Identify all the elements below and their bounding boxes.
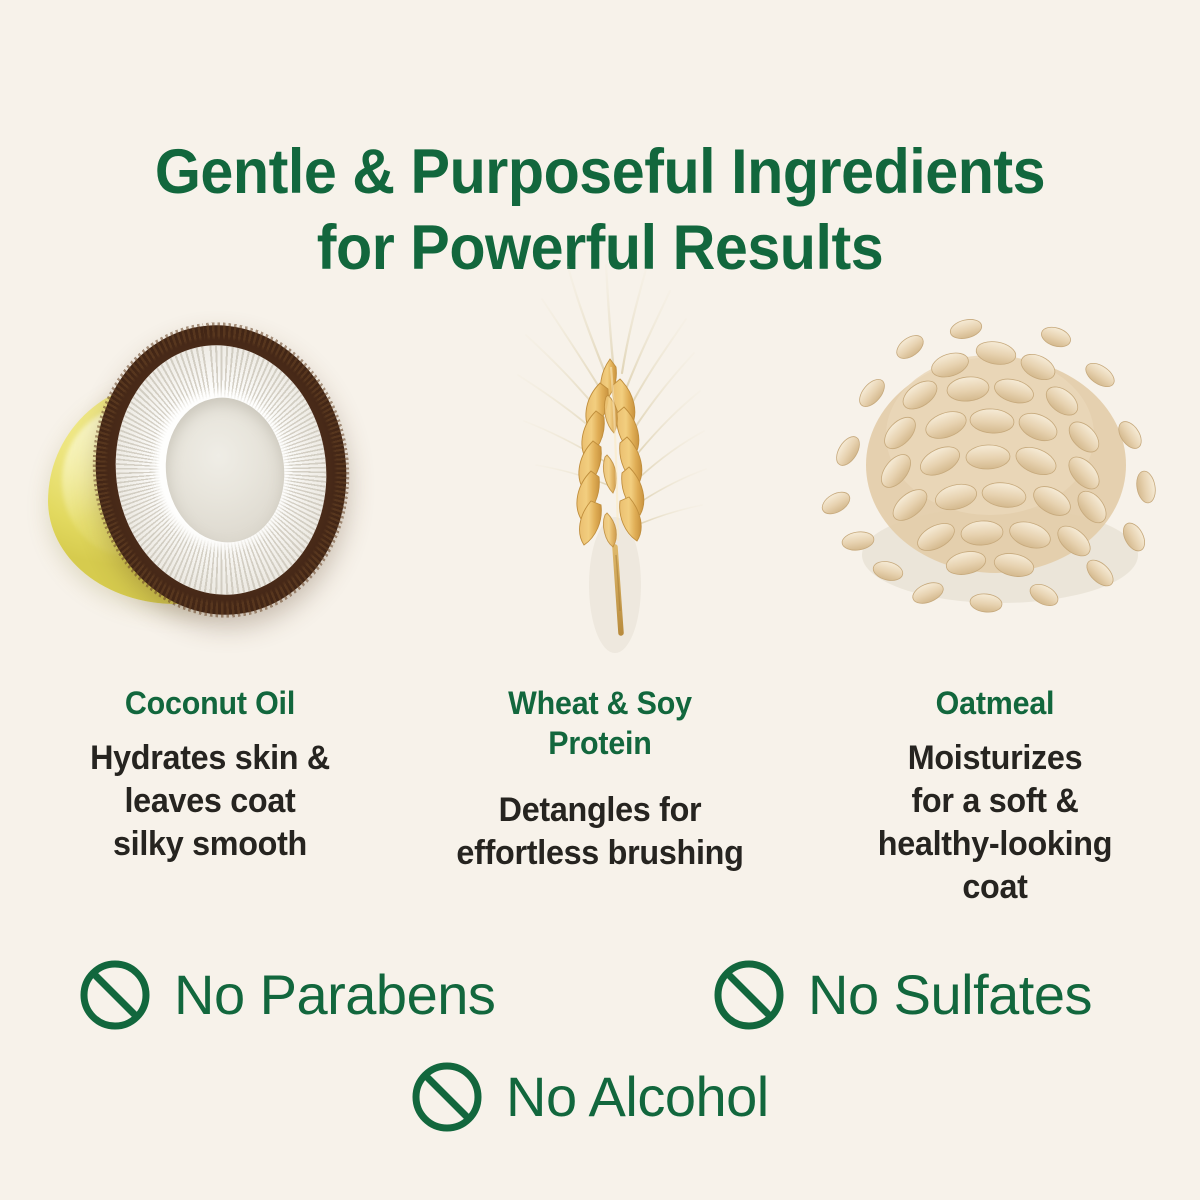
title-line: Protein xyxy=(410,723,790,763)
title-line: Wheat & Soy xyxy=(410,683,790,723)
ingredient-description: Hydrates skin & leaves coat silky smooth xyxy=(34,737,386,866)
desc-line: healthy-looking xyxy=(815,823,1176,866)
coconut-oil-art xyxy=(20,255,400,655)
oatmeal-pile-icon xyxy=(800,255,1190,655)
ingredient-caption-row: Coconut Oil Hydrates skin & leaves coat … xyxy=(0,683,1200,923)
ingredient-description: Detangles for effortless brushing xyxy=(410,789,790,875)
desc-line: Hydrates skin & xyxy=(34,737,386,780)
no-symbol-icon xyxy=(410,1060,484,1134)
desc-line: for a soft & xyxy=(815,780,1176,823)
desc-line: leaves coat xyxy=(34,780,386,823)
caption-oatmeal: Oatmeal Moisturizes for a soft & healthy… xyxy=(805,683,1185,909)
badge-label: No Alcohol xyxy=(506,1067,769,1127)
wheat-stalk-icon xyxy=(410,255,790,655)
badge-no-sulfates: No Sulfates xyxy=(712,958,1092,1032)
coconut-flesh xyxy=(102,333,341,607)
desc-line: silky smooth xyxy=(34,823,386,866)
ingredient-title: Oatmeal xyxy=(815,683,1176,723)
badge-label: No Parabens xyxy=(174,965,495,1025)
oatmeal-art xyxy=(800,255,1190,655)
badge-no-alcohol: No Alcohol xyxy=(410,1060,769,1134)
no-symbol-icon xyxy=(712,958,786,1032)
desc-line: coat xyxy=(815,866,1176,909)
caption-wheat-soy-protein: Wheat & Soy Protein Detangles for effort… xyxy=(400,683,800,875)
desc-line: Detangles for xyxy=(410,789,790,832)
caption-coconut-oil: Coconut Oil Hydrates skin & leaves coat … xyxy=(25,683,395,866)
ingredient-art-row xyxy=(0,255,1200,675)
free-from-badge-group: No Parabens No Sulfates No Alcohol xyxy=(0,948,1200,1158)
ingredients-infographic: Gentle & Purposeful Ingredients for Powe… xyxy=(0,0,1200,1200)
ingredient-description: Moisturizes for a soft & healthy-looking… xyxy=(815,737,1176,909)
desc-line: effortless brushing xyxy=(410,832,790,875)
ingredient-title: Wheat & Soy Protein xyxy=(410,683,790,763)
ingredient-title: Coconut Oil xyxy=(34,683,386,723)
wheat-stalk-art xyxy=(410,255,790,655)
badge-no-parabens: No Parabens xyxy=(78,958,495,1032)
desc-line: Moisturizes xyxy=(815,737,1176,780)
no-symbol-icon xyxy=(78,958,152,1032)
badge-label: No Sulfates xyxy=(808,965,1092,1025)
headline-line-1: Gentle & Purposeful Ingredients xyxy=(36,134,1164,210)
